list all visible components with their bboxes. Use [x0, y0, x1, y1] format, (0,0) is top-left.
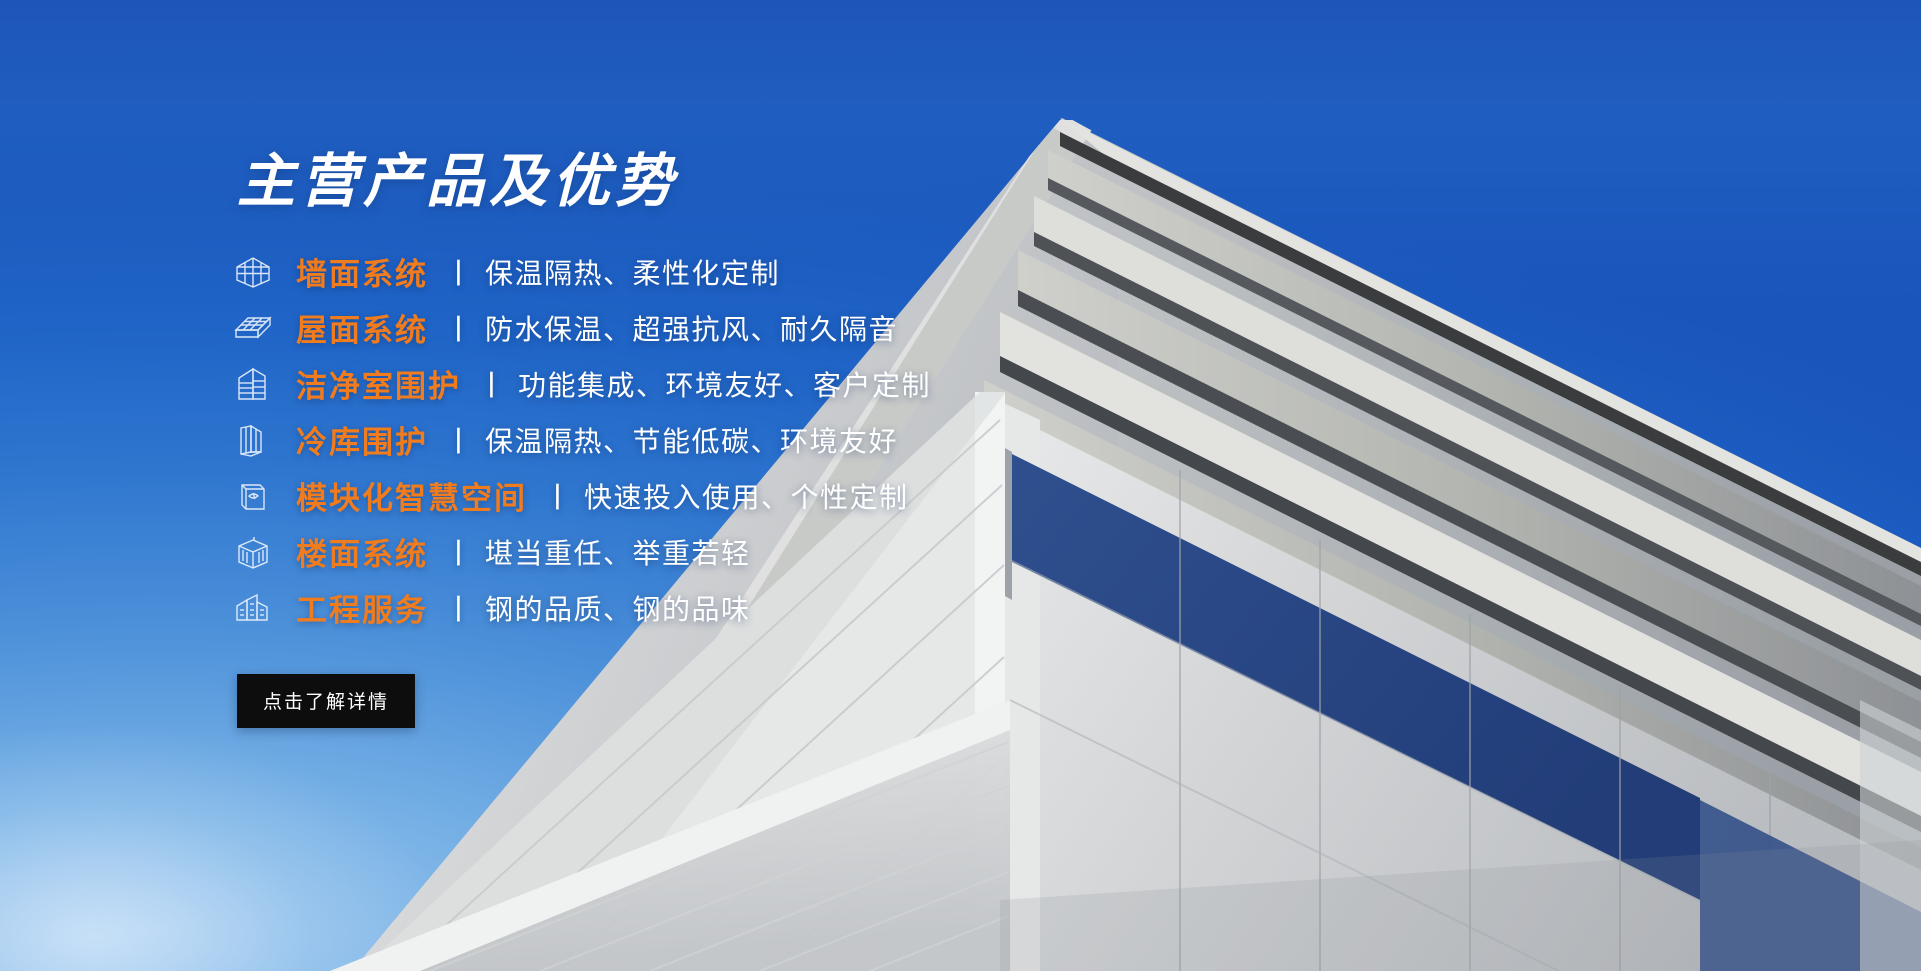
product-name: 冷库围护 — [296, 417, 428, 462]
product-desc: 快速投入使用、个性定制 — [584, 476, 909, 516]
product-list: 墙面系统 丨 保温隔热、柔性化定制 屋面系统 — [232, 244, 1232, 636]
separator: 丨 — [480, 364, 502, 403]
list-item[interactable]: 工程服务 丨 钢的品质、钢的品味 — [232, 580, 1232, 636]
separator: 丨 — [447, 420, 469, 459]
product-name: 模块化智慧空间 — [296, 473, 527, 518]
roof-panel-icon — [232, 308, 274, 348]
separator: 丨 — [546, 476, 568, 515]
separator: 丨 — [447, 588, 469, 627]
list-item[interactable]: 冷库围护 丨 保温隔热、节能低碳、环境友好 — [232, 412, 1232, 468]
product-name: 工程服务 — [296, 585, 428, 630]
page-title: 主营产品及优势 — [232, 150, 1232, 214]
separator: 丨 — [447, 532, 469, 571]
product-name: 楼面系统 — [296, 529, 428, 574]
product-desc: 堪当重任、举重若轻 — [485, 532, 751, 572]
product-name: 屋面系统 — [296, 305, 428, 350]
engineering-icon — [232, 588, 274, 628]
product-desc: 保温隔热、节能低碳、环境友好 — [485, 420, 898, 460]
cleanroom-icon — [232, 364, 274, 404]
list-item[interactable]: 屋面系统 丨 防水保温、超强抗风、耐久隔音 — [232, 300, 1232, 356]
product-name: 洁净室围护 — [296, 361, 461, 406]
separator: 丨 — [447, 252, 469, 291]
list-item[interactable]: 楼面系统 丨 堪当重任、举重若轻 — [232, 524, 1232, 580]
product-desc: 钢的品质、钢的品味 — [485, 588, 751, 628]
product-desc: 功能集成、环境友好、客户定制 — [518, 364, 931, 404]
hero-banner: 主营产品及优势 墙面系统 丨 保温隔热、柔性化定制 — [0, 0, 1921, 971]
learn-more-button[interactable]: 点击了解详情 — [237, 674, 415, 728]
product-desc: 保温隔热、柔性化定制 — [485, 252, 780, 292]
list-item[interactable]: 模块化智慧空间 丨 快速投入使用、个性定制 — [232, 468, 1232, 524]
list-item[interactable]: 洁净室围护 丨 功能集成、环境友好、客户定制 — [232, 356, 1232, 412]
hero-content: 主营产品及优势 墙面系统 丨 保温隔热、柔性化定制 — [232, 150, 1232, 728]
floor-system-icon — [232, 532, 274, 572]
wall-panel-icon — [232, 252, 274, 292]
product-desc: 防水保温、超强抗风、耐久隔音 — [485, 308, 898, 348]
separator: 丨 — [447, 308, 469, 347]
modular-space-icon — [232, 476, 274, 516]
coldstorage-icon — [232, 420, 274, 460]
list-item[interactable]: 墙面系统 丨 保温隔热、柔性化定制 — [232, 244, 1232, 300]
product-name: 墙面系统 — [296, 249, 428, 294]
